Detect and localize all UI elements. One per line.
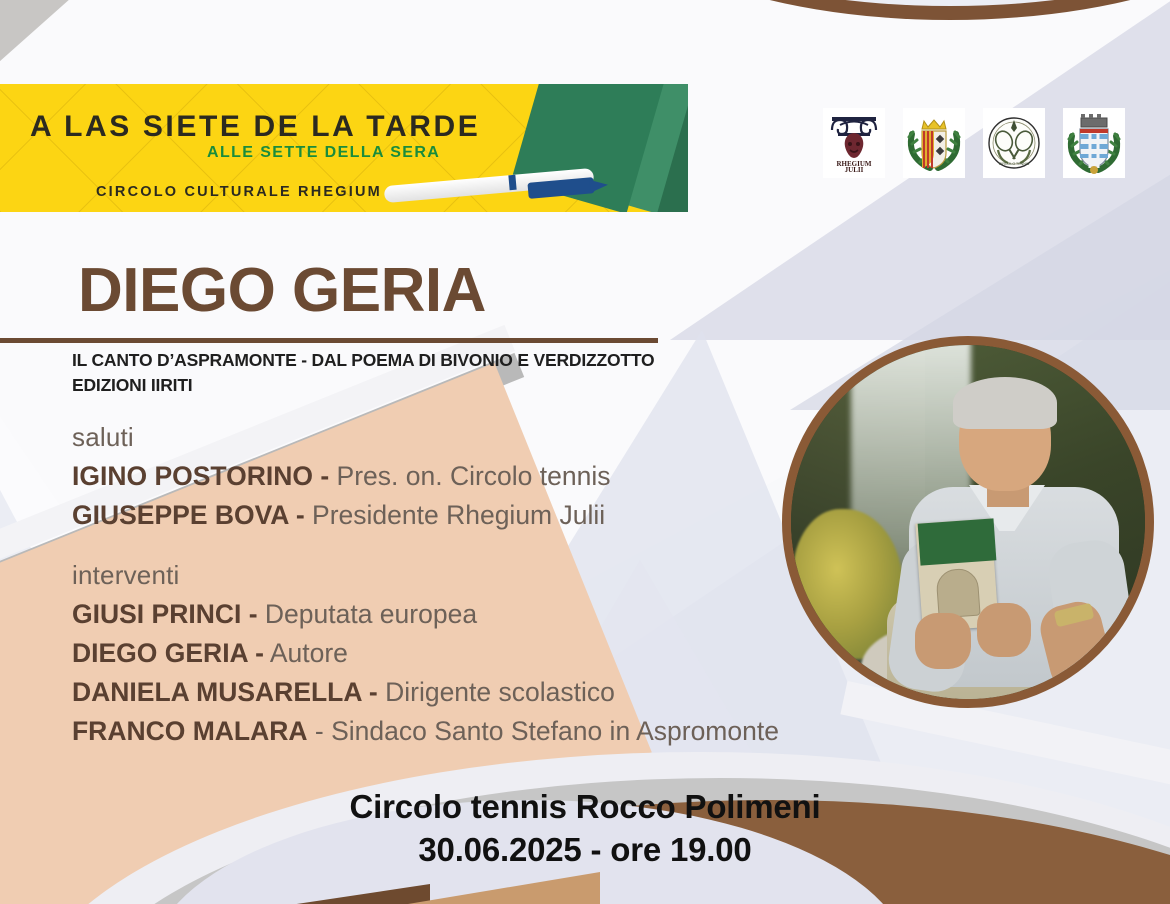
speaker-row: FRANCO MALARA - Sindaco Santo Stefano in… xyxy=(72,712,952,751)
pen-icon-clip xyxy=(508,175,516,191)
banner-title: A LAS SIETE DE LA TARDE xyxy=(30,110,480,144)
speaker-name: FRANCO MALARA xyxy=(72,716,308,746)
speaker-role: Presidente Rhegium Julii xyxy=(312,500,605,530)
event-datetime: 30.06.2025 - ore 19.00 xyxy=(0,829,1170,872)
photo-person-hair xyxy=(953,377,1057,429)
speaker-role: Pres. on. Circolo tennis xyxy=(337,461,611,491)
banner-subtitle: ALLE SETTE DELLA SERA xyxy=(207,144,440,162)
tennis-club-icon: CIRCOLO TENNIS xyxy=(985,114,1043,172)
logo-strip: RHEGIUM JULII xyxy=(823,108,1125,178)
tennis-club-logo: CIRCOLO TENNIS xyxy=(983,108,1045,178)
rhegium-julii-icon: RHEGIUM JULII xyxy=(826,112,882,174)
speaker-name: IGINO POSTORINO - xyxy=(72,461,329,491)
banner-organization: CIRCOLO CULTURALE RHEGIUM xyxy=(96,184,382,200)
title-divider xyxy=(0,338,658,343)
comune-santo-stefano-crest-logo xyxy=(1063,108,1125,178)
speaker-role: Dirigente scolastico xyxy=(385,677,615,707)
page-title: DIEGO GERIA xyxy=(78,260,486,322)
photo-book-cover-top xyxy=(918,518,997,565)
svg-text:JULII: JULII xyxy=(845,166,864,174)
svg-text:CIRCOLO TENNIS: CIRCOLO TENNIS xyxy=(999,162,1030,166)
program-banner: A LAS SIETE DE LA TARDE ALLE SETTE DELLA… xyxy=(0,84,688,212)
event-footer: Circolo tennis Rocco Polimeni 30.06.2025… xyxy=(0,786,1170,872)
speaker-role: Deputata europea xyxy=(265,599,477,629)
speaker-name: DIEGO GERIA - xyxy=(72,638,264,668)
event-venue: Circolo tennis Rocco Polimeni xyxy=(0,786,1170,829)
comune-crest-logo xyxy=(903,108,965,178)
book-subtitle-line-2: EDIZIONI IIRITI xyxy=(72,373,832,398)
speaker-role: Autore xyxy=(270,638,348,668)
photo-person-hand-left xyxy=(915,613,971,669)
author-photo xyxy=(782,336,1154,708)
comune-santo-stefano-crest-icon xyxy=(1064,112,1124,174)
book-subtitle: IL CANTO D’ASPRAMONTE - DAL POEMA DI BIV… xyxy=(72,348,832,398)
speaker-name: DANIELA MUSARELLA - xyxy=(72,677,378,707)
event-poster: A LAS SIETE DE LA TARDE ALLE SETTE DELLA… xyxy=(0,0,1170,904)
speaker-role: - Sindaco Santo Stefano in Aspromonte xyxy=(315,716,779,746)
photo-book-illustration xyxy=(935,568,980,619)
book-subtitle-line-1: IL CANTO D’ASPRAMONTE - DAL POEMA DI BIV… xyxy=(72,348,832,373)
photo-person-hand-right xyxy=(977,603,1031,657)
speaker-name: GIUSI PRINCI - xyxy=(72,599,258,629)
rhegium-julii-logo: RHEGIUM JULII xyxy=(823,108,885,178)
comune-crest-icon xyxy=(904,112,964,174)
speaker-name: GIUSEPPE BOVA - xyxy=(72,500,305,530)
